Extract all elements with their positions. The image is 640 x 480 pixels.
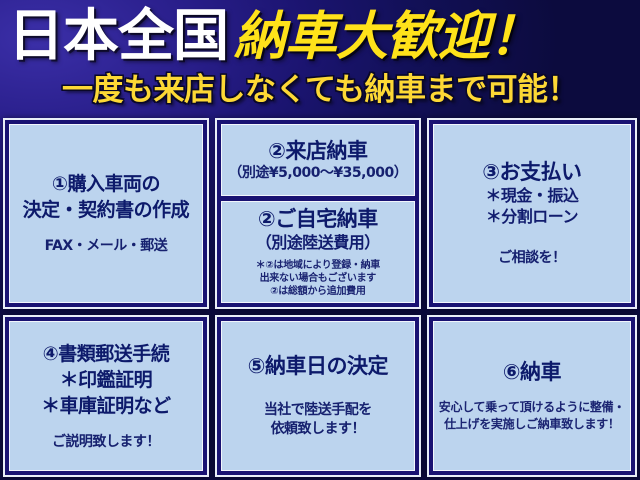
step-2-home-panel: ②ご自宅納車 （別途陸送費用） ＊②は地域により登録・納車 出来ない場合もござい… — [221, 201, 415, 303]
step-4-panel: ④書類郵送手続 ＊印鑑証明 ＊車庫証明など ご説明致します！ — [9, 321, 203, 471]
step-2-home-price: （別途陸送費用） — [256, 232, 380, 253]
step-4-title-line-3: ＊車庫証明など — [41, 393, 171, 419]
step-2-fine-print-line-3: ②は総額から追加費用 — [270, 285, 365, 298]
step-6-title: ⑥納車 — [503, 359, 561, 385]
step-2-store-price: （別途¥5,000〜¥35,000） — [228, 164, 407, 183]
step-2-store-title: ②来店納車 — [268, 138, 367, 164]
step-3-panel: ③お支払い ＊現金・振込 ＊分割ローン ご相談を！ — [433, 124, 631, 303]
step-card-4: ④書類郵送手続 ＊印鑑証明 ＊車庫証明など ご説明致します！ — [3, 315, 209, 477]
step-4-note-line-1: ご説明致します！ — [52, 433, 160, 452]
step-6-note-line-2: 仕上げを実施しご納車致します！ — [444, 416, 620, 433]
step-5-note-line-2: 依頼致します！ — [271, 420, 366, 439]
step-1-panel: ①購入車両の 決定・契約書の作成 FAX・メール・郵送 — [9, 124, 203, 303]
headline-primary: 日本全国 — [8, 8, 228, 66]
step-5-panel: ⑤納車日の決定 当社で陸送手配を 依頼致します！ — [221, 321, 415, 471]
step-6-panel: ⑥納車 安心して乗って頂けるように整備・ 仕上げを実施しご納車致します！ — [433, 321, 631, 471]
step-6-note-line-1: 安心して乗って頂けるように整備・ — [439, 399, 625, 416]
step-5-note-line-1: 当社で陸送手配を — [264, 401, 372, 420]
headline-accent: 納車大歓迎！ — [234, 9, 540, 65]
step-4-title-line-2: ＊印鑑証明 — [60, 367, 153, 393]
step-3-note-line-1: ご相談を！ — [498, 249, 566, 268]
step-card-5: ⑤納車日の決定 当社で陸送手配を 依頼致します！ — [215, 315, 421, 477]
step-3-title: ③お支払い — [482, 159, 581, 185]
step-2-fine-print-line-2: 出来ない場合もございます — [260, 272, 376, 285]
step-card-6: ⑥納車 安心して乗って頂けるように整備・ 仕上げを実施しご納車致します！ — [427, 315, 637, 477]
step-1-note-line-1: FAX・メール・郵送 — [45, 237, 168, 256]
step-2-store-panel: ②来店納車 （別途¥5,000〜¥35,000） — [221, 124, 415, 196]
step-4-title-line-1: ④書類郵送手続 — [43, 341, 170, 367]
step-2-fine-print-line-1: ＊②は地域により登録・納車 — [256, 259, 380, 272]
steps-grid: ①購入車両の 決定・契約書の作成 FAX・メール・郵送 ②来店納車 （別途¥5,… — [0, 116, 640, 480]
step-card-3: ③お支払い ＊現金・振込 ＊分割ローン ご相談を！ — [427, 118, 637, 309]
step-1-title-line-2: 決定・契約書の作成 — [23, 197, 190, 223]
step-5-title: ⑤納車日の決定 — [248, 353, 388, 379]
step-card-1: ①購入車両の 決定・契約書の作成 FAX・メール・郵送 — [3, 118, 209, 309]
poster-header: 日本全国 納車大歓迎！ 一度も来店しなくても納車まで可能！ — [0, 0, 640, 116]
step-3-bullet-line-1: ＊現金・振込 — [485, 185, 578, 206]
step-3-bullet-line-2: ＊分割ローン — [486, 206, 578, 227]
poster-canvas: 日本全国 納車大歓迎！ 一度も来店しなくても納車まで可能！ ①購入車両の 決定・… — [0, 0, 640, 480]
headline-row: 日本全国 納車大歓迎！ — [0, 6, 640, 68]
step-2-home-title: ②ご自宅納車 — [258, 206, 378, 232]
step-card-2: ②来店納車 （別途¥5,000〜¥35,000） ②ご自宅納車 （別途陸送費用）… — [215, 118, 421, 309]
headline-subtitle: 一度も来店しなくても納車まで可能！ — [0, 72, 640, 108]
step-1-title-line-1: ①購入車両の — [52, 171, 160, 197]
